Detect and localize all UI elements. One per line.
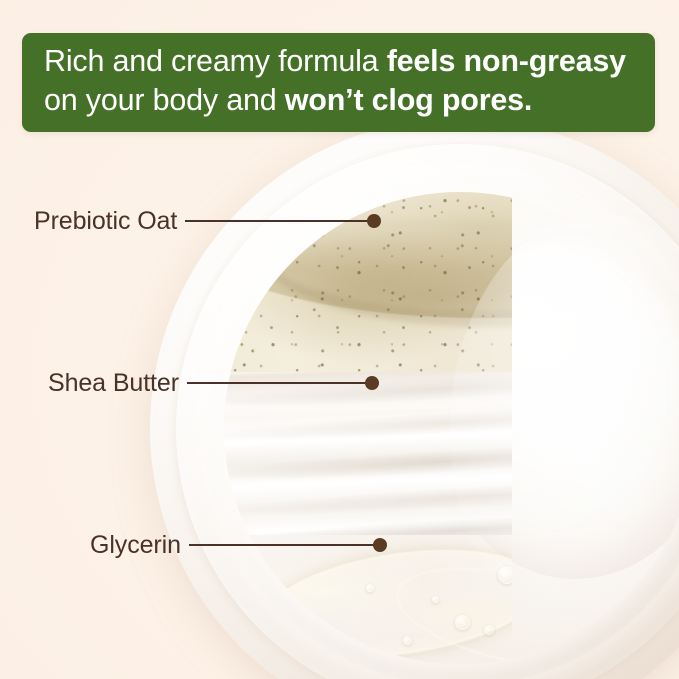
- callout-label-prebiotic-oat: Prebiotic Oat: [34, 207, 177, 236]
- callout-dot: [367, 214, 381, 228]
- headline-text-normal: on your body and: [44, 83, 285, 117]
- cream-swirl-texture: [224, 192, 679, 664]
- headline-line-1: Rich and creamy formula feels non-greasy: [44, 42, 635, 81]
- callout-prebiotic-oat: Prebiotic Oat: [34, 204, 381, 238]
- infographic-canvas: Rich and creamy formula feels non-greasy…: [0, 0, 679, 679]
- callout-glycerin: Glycerin: [90, 528, 387, 562]
- callout-leader-line: [189, 544, 375, 546]
- callout-shea-butter: Shea Butter: [48, 366, 379, 400]
- callout-label-shea-butter: Shea Butter: [48, 369, 179, 398]
- cream-surface: [224, 192, 679, 664]
- callout-dot: [373, 538, 387, 552]
- headline-text-bold: feels non-greasy: [387, 44, 626, 78]
- headline-line-2: on your body and won’t clog pores.: [44, 81, 635, 120]
- callout-label-glycerin: Glycerin: [90, 531, 181, 560]
- headline-text-normal: Rich and creamy formula: [44, 44, 387, 78]
- callout-leader-line: [187, 382, 367, 384]
- headline-banner: Rich and creamy formula feels non-greasy…: [22, 33, 655, 132]
- callout-leader-line: [185, 220, 369, 222]
- callout-dot: [365, 376, 379, 390]
- headline-text-bold: won’t clog pores.: [285, 83, 532, 117]
